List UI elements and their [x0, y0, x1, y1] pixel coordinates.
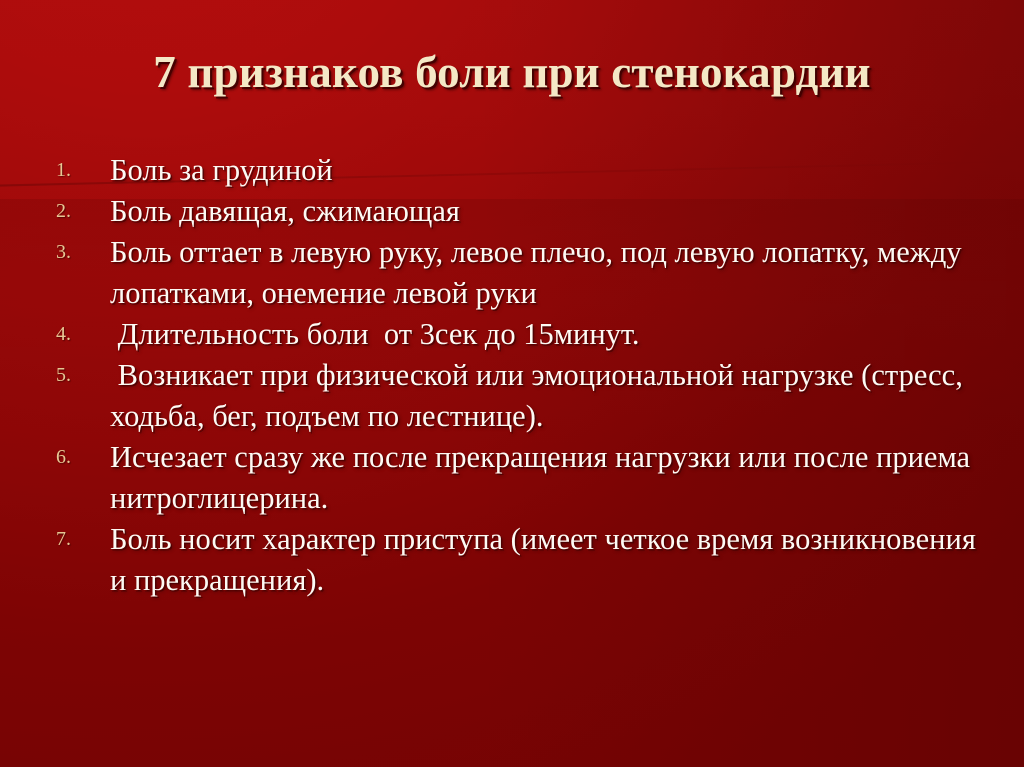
list-item-number: 2.	[48, 191, 110, 232]
list-item-text: Боль носит характер приступа (имеет четк…	[110, 519, 978, 601]
list-item-number: 6.	[48, 437, 110, 478]
list-item-text: Боль давящая, сжимающая	[110, 191, 978, 232]
list-item: 4. Длительность боли от 3сек до 15минут.	[48, 314, 978, 355]
slide-title: 7 признаков боли при стенокардии	[0, 46, 1024, 98]
list-item-number: 3.	[48, 232, 110, 273]
list-item: 6. Исчезает сразу же после прекращения н…	[48, 437, 978, 519]
list-item: 5. Возникает при физической или эмоциона…	[48, 355, 978, 437]
list-item-number: 5.	[48, 355, 110, 396]
symptom-list: 1. Боль за грудиной 2. Боль давящая, сжи…	[48, 150, 978, 601]
list-item-text: Боль оттает в левую руку, левое плечо, п…	[110, 232, 978, 314]
list-item-text: Исчезает сразу же после прекращения нагр…	[110, 437, 978, 519]
list-item: 2. Боль давящая, сжимающая	[48, 191, 978, 232]
list-item-text: Длительность боли от 3сек до 15минут.	[110, 314, 978, 355]
list-item-number: 1.	[48, 150, 110, 191]
list-item: 3. Боль оттает в левую руку, левое плечо…	[48, 232, 978, 314]
list-item-text: Боль за грудиной	[110, 150, 978, 191]
slide-canvas: 7 признаков боли при стенокардии 1. Боль…	[0, 0, 1024, 767]
list-item-number: 7.	[48, 519, 110, 560]
list-item: 1. Боль за грудиной	[48, 150, 978, 191]
list-item: 7. Боль носит характер приступа (имеет ч…	[48, 519, 978, 601]
list-item-number: 4.	[48, 314, 110, 355]
list-item-text: Возникает при физической или эмоциональн…	[110, 355, 978, 437]
